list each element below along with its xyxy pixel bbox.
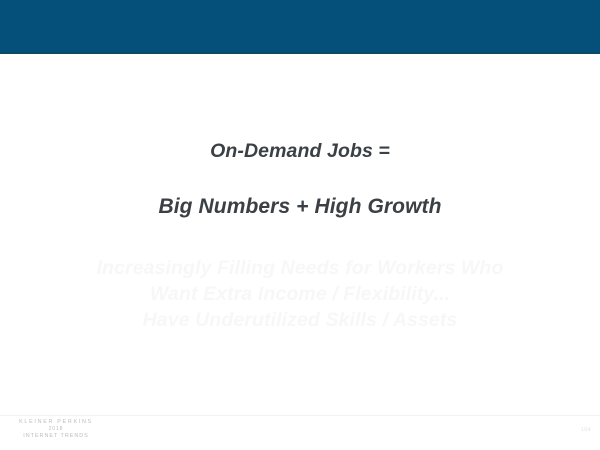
slide-header-band bbox=[0, 0, 600, 54]
footer-divider bbox=[0, 415, 600, 416]
header-band-bottom-shade bbox=[0, 52, 600, 54]
page-number: 164 bbox=[581, 427, 591, 433]
slide-subtitle: Increasingly Filling Needs for Workers W… bbox=[0, 255, 600, 333]
headline-line-1: On-Demand Jobs = bbox=[0, 140, 600, 162]
presentation-slide: On-Demand Jobs = Big Numbers + High Grow… bbox=[0, 0, 600, 450]
headline-line-2: Big Numbers + High Growth bbox=[0, 195, 600, 219]
slide-headline: On-Demand Jobs = Big Numbers + High Grow… bbox=[0, 140, 600, 220]
subtitle-line-1: Increasingly Filling Needs for Workers W… bbox=[0, 255, 600, 281]
kleiner-perkins-logo: KLEINER PERKINS 2018 INTERNET TRENDS bbox=[8, 419, 104, 440]
logo-year: 2018 bbox=[8, 426, 104, 433]
logo-firm-name: KLEINER PERKINS bbox=[8, 419, 104, 426]
subtitle-line-2: Want Extra Income / Flexibility... bbox=[0, 281, 600, 307]
subtitle-line-3: Have Underutilized Skills / Assets bbox=[0, 307, 600, 333]
logo-report-name: INTERNET TRENDS bbox=[8, 433, 104, 440]
